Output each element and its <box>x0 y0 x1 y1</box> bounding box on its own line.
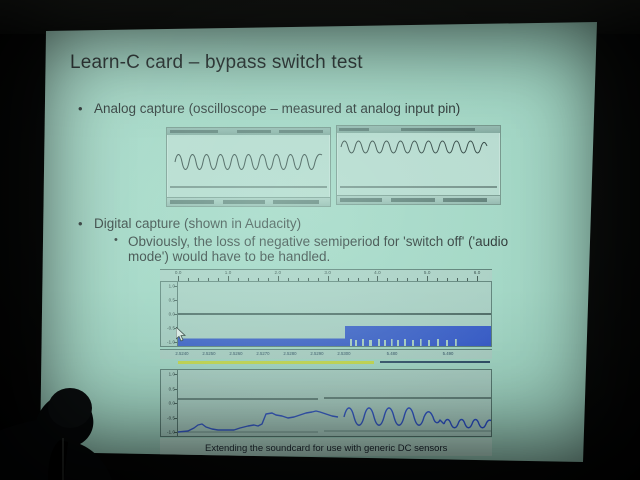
ruler-label: 2.0 <box>275 270 282 275</box>
zoom-time-label: 5.480 <box>387 351 398 356</box>
track2-vertical-scale: 1.00.50.0-0.5-1.0 <box>161 370 178 436</box>
bullet-marker: • <box>78 216 83 231</box>
slide-title: Learn-C card – bypass switch test <box>70 52 363 74</box>
zoom-time-label: 2.5250 <box>202 351 215 356</box>
zoom-time-label: 2.5270 <box>256 351 269 356</box>
scope-right-titlebar <box>337 126 500 133</box>
zoom-time-label: 2.5260 <box>229 351 242 356</box>
zoom-time-label: 2.5290 <box>310 351 323 356</box>
audacity-track-zoom[interactable]: 1.00.50.0-0.5-1.0 <box>160 369 492 437</box>
vscale-tick <box>174 286 177 287</box>
vscale-tick <box>174 389 177 390</box>
presenter-silhouette <box>0 360 150 480</box>
scope-left-titlebar <box>167 128 330 135</box>
zoom-time-label: 2.5280 <box>283 351 296 356</box>
zoom-time-label: 5.490 <box>443 351 454 356</box>
audacity-track-overview[interactable]: 1.00.50.0-0.5-1.0 <box>160 281 492 347</box>
ruler-label: 0.0 <box>175 270 182 275</box>
ruler-label: 5.0 <box>424 270 431 275</box>
bullet-digital-capture: Digital capture (shown in Audacity) <box>94 216 301 231</box>
scope-left-trace <box>167 135 330 198</box>
bullet-analog-capture: Analog capture (oscilloscope – measured … <box>94 101 460 116</box>
vscale-tick <box>174 374 177 375</box>
audacity-capture: 0.01.02.03.04.05.06.0 1.00.50.0-0.5-1.0 <box>160 269 492 444</box>
oscilloscope-capture-left <box>166 127 331 207</box>
selection-bar-blue[interactable] <box>380 361 490 363</box>
oscilloscope-capture-right <box>336 125 501 205</box>
sub-bullet-marker: • <box>114 234 118 246</box>
ruler-label: 4.0 <box>374 270 381 275</box>
vscale-tick <box>174 342 177 343</box>
track1-waveform[interactable] <box>178 282 491 346</box>
selection-bar-yellow[interactable] <box>178 361 374 364</box>
vscale-tick <box>174 314 177 315</box>
vscale-tick <box>174 418 177 419</box>
ruler-label: 6.0 <box>474 270 481 275</box>
screenshot-root: Learn-C card – bypass switch test • Anal… <box>0 0 640 480</box>
scope-left-statusbar <box>167 197 330 206</box>
audacity-zoom-label-strip: 2.52402.52502.52602.52702.52802.52902.53… <box>160 349 492 359</box>
track2-waveform[interactable] <box>178 370 491 436</box>
vscale-tick <box>174 403 177 404</box>
slide-footer-text: Extending the soundcard for use with gen… <box>205 443 447 454</box>
ruler-label: 3.0 <box>324 270 331 275</box>
scope-right-statusbar <box>337 195 500 204</box>
vscale-tick <box>174 432 177 433</box>
zoom-time-label: 2.5300 <box>337 351 350 356</box>
zoom-time-label: 2.5240 <box>175 351 188 356</box>
mouse-pointer-icon <box>176 327 187 342</box>
bullet-marker: • <box>78 101 83 116</box>
ruler-label: 1.0 <box>225 270 232 275</box>
vscale-tick <box>174 300 177 301</box>
sub-bullet-negative-semiperiod: Obviously, the loss of negative semiperi… <box>128 234 528 264</box>
scope-right-trace <box>337 133 500 196</box>
